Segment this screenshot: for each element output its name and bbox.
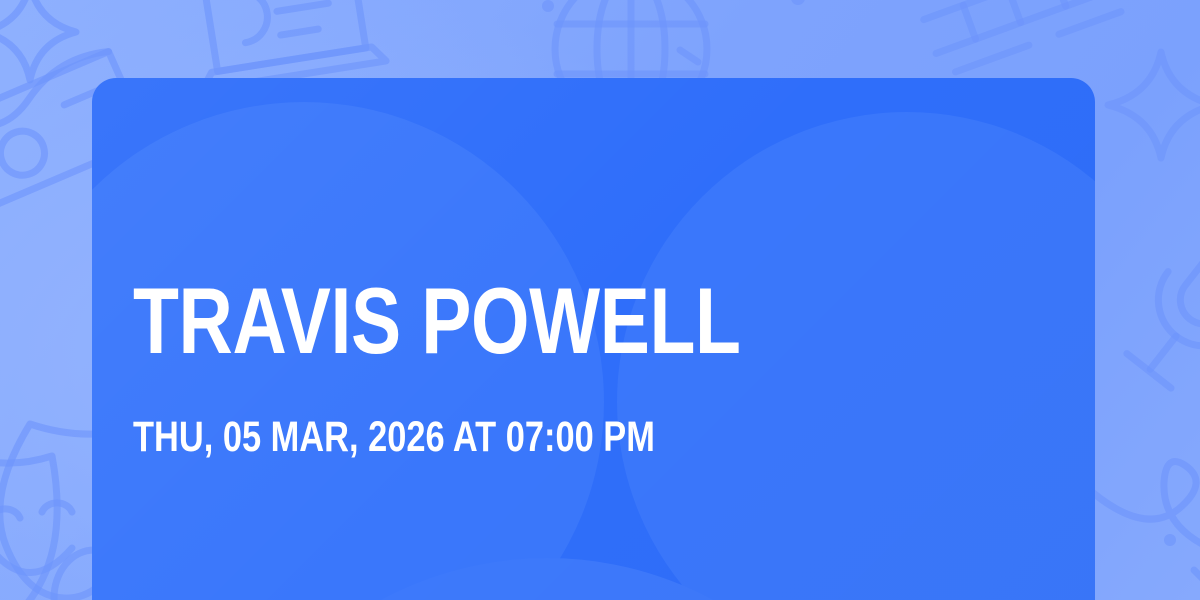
- event-title: TRAVIS POWELL: [133, 278, 903, 364]
- event-card-content: TRAVIS POWELL THU, 05 MAR, 2026 AT 07:00…: [133, 78, 1095, 600]
- event-card[interactable]: TRAVIS POWELL THU, 05 MAR, 2026 AT 07:00…: [92, 78, 1095, 600]
- event-datetime: THU, 05 MAR, 2026 AT 07:00 PM: [133, 416, 903, 459]
